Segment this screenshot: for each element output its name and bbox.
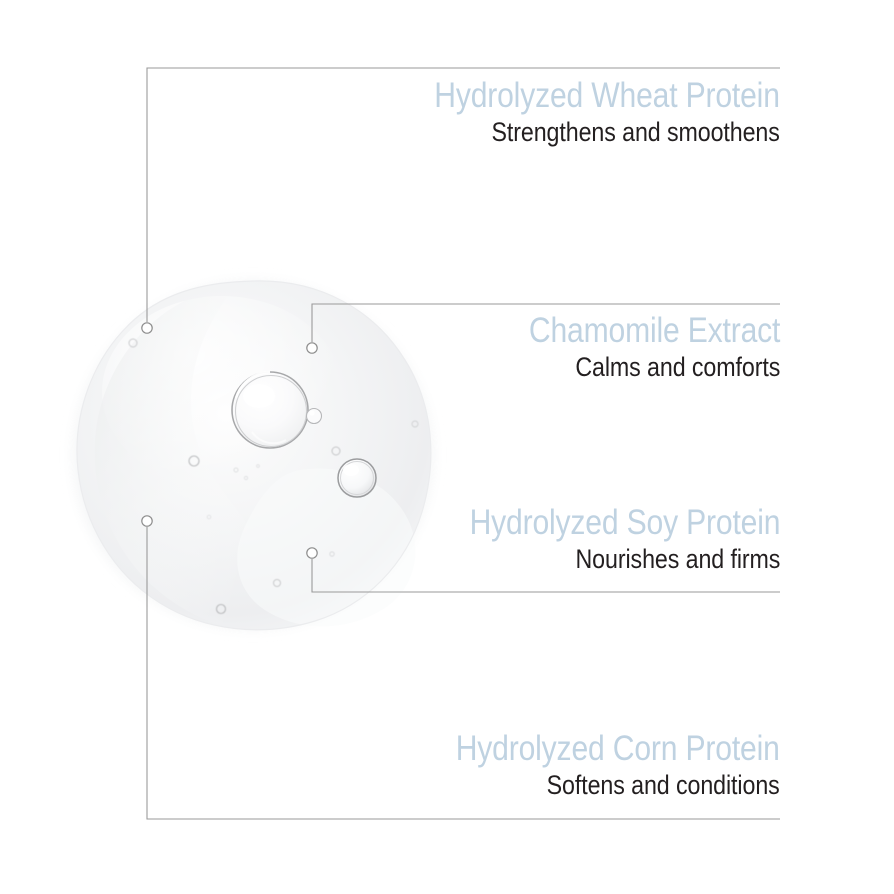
callout-subtitle: Nourishes and firms [469, 546, 780, 573]
leader-marker-chamomile-extract [307, 343, 317, 353]
callout-hydrolyzed-corn-protein: Hydrolyzed Corn Protein Softens and cond… [403, 731, 780, 799]
callout-title: Hydrolyzed Wheat Protein [434, 78, 780, 113]
callout-title: Chamomile Extract [529, 313, 780, 348]
leader-marker-hydrolyzed-corn-protein [142, 516, 152, 526]
callout-chamomile-extract: Chamomile Extract Calms and comforts [488, 313, 780, 381]
callout-title: Hydrolyzed Soy Protein [469, 505, 780, 540]
callout-hydrolyzed-wheat-protein: Hydrolyzed Wheat Protein Strengthens and… [378, 78, 780, 146]
leader-marker-hydrolyzed-wheat-protein [142, 323, 152, 333]
callout-subtitle: Calms and comforts [529, 354, 780, 381]
callout-subtitle: Strengthens and smoothens [434, 119, 780, 146]
callout-title: Hydrolyzed Corn Protein [456, 731, 780, 766]
leader-marker-hydrolyzed-soy-protein [307, 548, 317, 558]
callout-subtitle: Softens and conditions [456, 772, 780, 799]
ingredient-infographic: Hydrolyzed Wheat Protein Strengthens and… [0, 0, 894, 894]
callout-hydrolyzed-soy-protein: Hydrolyzed Soy Protein Nourishes and fir… [419, 505, 780, 573]
